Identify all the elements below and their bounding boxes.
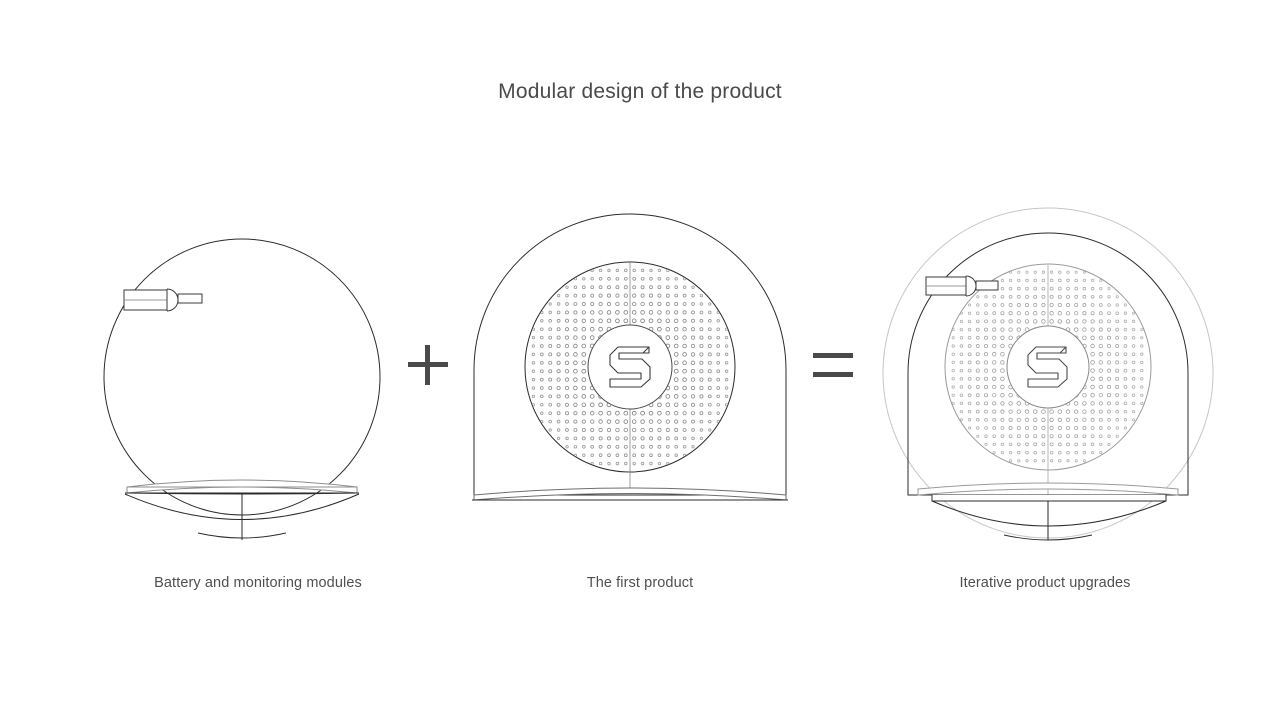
page-title: Modular design of the product (0, 80, 1280, 104)
figure-battery-module (80, 195, 410, 540)
upgraded-product-drawing (880, 195, 1220, 540)
operator-equals (798, 330, 868, 400)
center-logo-badge (588, 325, 672, 409)
equals-top-bar (813, 353, 853, 358)
equals-bottom-bar (813, 372, 853, 377)
caption-battery-module: Battery and monitoring modules (58, 575, 458, 591)
power-plug-icon (124, 289, 202, 311)
figure-first-product (455, 195, 805, 540)
base-plate (125, 480, 359, 494)
spherical-shell-outline (104, 239, 380, 515)
center-logo-badge (1007, 326, 1089, 408)
battery-module-drawing (80, 195, 410, 540)
center-post (125, 494, 359, 540)
diagram-canvas: Modular design of the product (0, 0, 1280, 720)
caption-upgraded-product: Iterative product upgrades (845, 575, 1245, 591)
caption-first-product: The first product (440, 575, 840, 591)
figure-upgraded-product (880, 195, 1220, 540)
operator-plus (393, 330, 463, 400)
center-post (932, 501, 1166, 540)
plus-horizontal-bar (408, 362, 448, 367)
first-product-drawing (455, 195, 805, 540)
